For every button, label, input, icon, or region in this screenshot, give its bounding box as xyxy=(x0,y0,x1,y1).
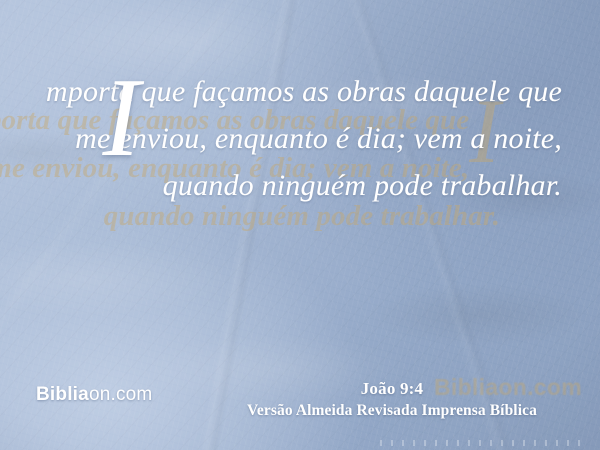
reference-block: João 9:4 Versão Almeida Revisada Imprens… xyxy=(198,378,586,422)
site-logo-tail: on.com xyxy=(89,384,153,405)
bottom-speckle-decoration xyxy=(380,440,580,446)
verse-reference: João 9:4 xyxy=(198,378,586,400)
footer: Bibliaon.com Bibliaon.com João 9:4 Versã… xyxy=(0,378,600,450)
site-logo[interactable]: Bibliaon.com xyxy=(36,384,152,406)
verse-body: mporta que façamos as obras daquele que … xyxy=(20,68,562,209)
verse-text: I mporta que façamos as obras daquele qu… xyxy=(20,68,562,209)
bible-version: Versão Almeida Revisada Imprensa Bíblica xyxy=(198,400,586,422)
site-logo-mark: Biblia xyxy=(36,384,89,405)
verse-image-card: I mporta que façamos as obras daquele qu… xyxy=(0,0,600,450)
verse-dropcap: I xyxy=(103,66,141,170)
